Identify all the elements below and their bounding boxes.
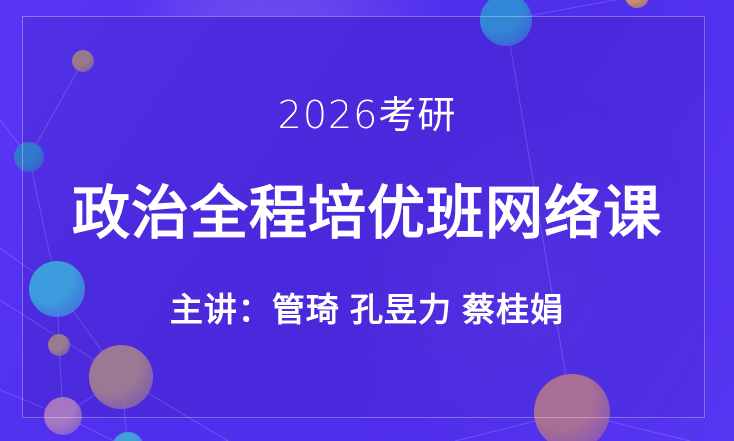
course-poster: 2026考研 政治全程培优班网络课 主讲：管琦 孔昱力 蔡桂娟 (0, 0, 734, 441)
poster-presenters: 主讲：管琦 孔昱力 蔡桂娟 (0, 291, 734, 329)
poster-headline: 政治全程培优班网络课 (0, 182, 734, 246)
poster-eyebrow: 2026考研 (0, 94, 734, 136)
poster-text-content: 2026考研 政治全程培优班网络课 主讲：管琦 孔昱力 蔡桂娟 (0, 0, 734, 441)
